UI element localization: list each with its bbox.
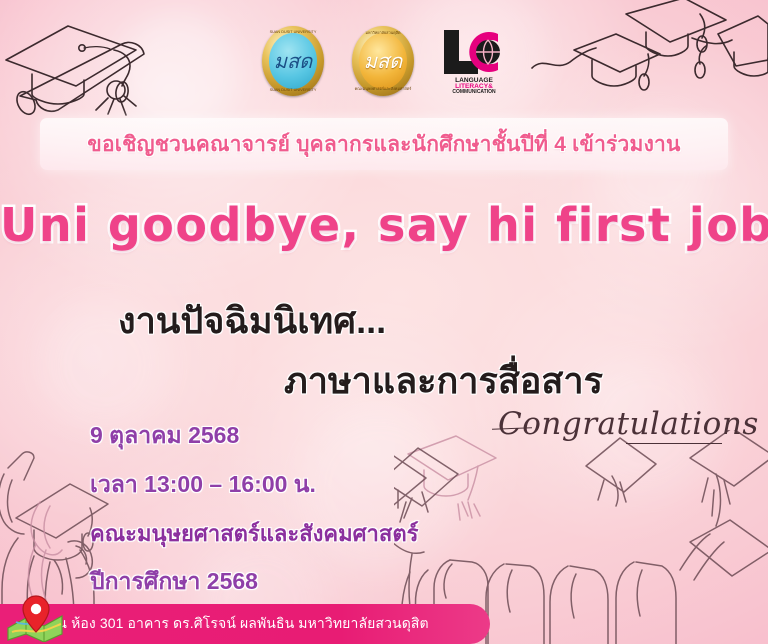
- event-time: เวลา 13:00 – 16:00 น.: [90, 467, 490, 503]
- invite-banner: ขอเชิญชวนคณาจารย์ บุคลากรและนักศึกษาชั้น…: [40, 118, 728, 170]
- map-pin-icon: [4, 594, 74, 642]
- seal-arc-bottom: SUAN DUSIT UNIVERSITY: [262, 88, 324, 92]
- event-details: 9 ตุลาคม 2568 เวลา 13:00 – 16:00 น. คณะม…: [90, 418, 490, 613]
- invite-text: ขอเชิญชวนคณาจารย์ บุคลากรและนักศึกษาชั้น…: [87, 128, 680, 161]
- seal-arc-top: มหาวิทยาลัยสวนดุสิต: [352, 30, 414, 36]
- poster-canvas: มสด SUAN DUSIT UNIVERSITY SUAN DUSIT UNI…: [0, 0, 768, 644]
- seal-arc-bottom: คณะมนุษยศาสตร์และสังคมศาสตร์: [352, 86, 414, 92]
- faculty-seal-icon: มสด มหาวิทยาลัยสวนดุสิต คณะมนุษยศาสตร์แล…: [352, 26, 414, 96]
- congratulations-script: Congratulations: [498, 406, 759, 442]
- event-academic-year: ปีการศึกษา 2568: [90, 564, 490, 600]
- venue-text: ณ ห้อง 301 อาคาร ดร.ศิโรจน์ ผลพันธิน มหา…: [54, 613, 429, 635]
- event-faculty: คณะมนุษยศาสตร์และสังคมศาสตร์: [90, 516, 490, 551]
- seal-monogram: มสด: [269, 33, 317, 89]
- logo-row: มสด SUAN DUSIT UNIVERSITY SUAN DUSIT UNI…: [0, 26, 768, 96]
- seal-arc-top: SUAN DUSIT UNIVERSITY: [262, 30, 324, 34]
- suan-dusit-university-seal-icon: มสด SUAN DUSIT UNIVERSITY SUAN DUSIT UNI…: [262, 26, 324, 96]
- language-literacy-communication-logo-icon: LANGUAGE LITERACY& COMMUNICATION: [442, 28, 506, 94]
- main-title: Uni goodbye, say hi first job: [0, 198, 768, 252]
- event-date: 9 ตุลาคม 2568: [90, 418, 490, 454]
- seal-monogram: มสด: [359, 33, 407, 89]
- subtitle-line-2: ภาษาและการสื่อสาร: [284, 352, 603, 409]
- congratulations-flourish-right: [626, 443, 722, 444]
- subtitle-line-1: งานปัจฉิมนิเทศ...: [118, 292, 386, 349]
- svg-text:COMMUNICATION: COMMUNICATION: [452, 89, 496, 94]
